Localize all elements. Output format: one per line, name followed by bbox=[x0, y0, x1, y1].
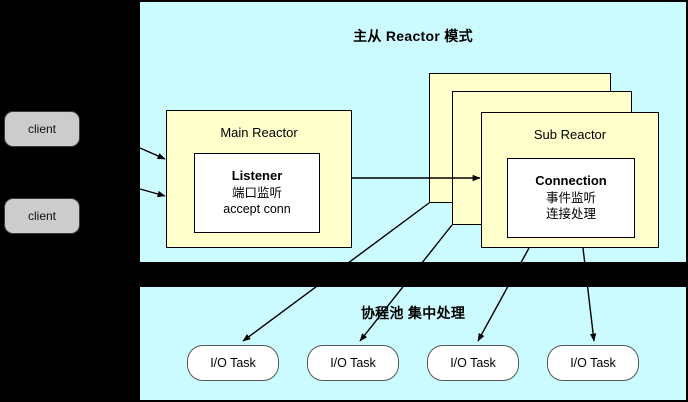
io-task-node-3-label: I/O Task bbox=[450, 356, 496, 370]
connection-title: Connection bbox=[535, 173, 607, 189]
connection-box[interactable]: Connection 事件监听 连接处理 bbox=[507, 158, 635, 238]
io-task-node-3[interactable]: I/O Task bbox=[427, 345, 519, 381]
listener-line-2: accept conn bbox=[223, 202, 290, 218]
listener-line-1: 端口监听 bbox=[232, 186, 282, 202]
io-task-node-2-label: I/O Task bbox=[330, 356, 376, 370]
bottom-panel-title: 协程池 集中处理 bbox=[140, 303, 686, 323]
listener-title: Listener bbox=[232, 168, 283, 184]
io-task-node-2[interactable]: I/O Task bbox=[307, 345, 399, 381]
io-task-node-4[interactable]: I/O Task bbox=[547, 345, 639, 381]
main-reactor-label: Main Reactor bbox=[167, 125, 351, 140]
top-panel-title: 主从 Reactor 模式 bbox=[140, 26, 686, 46]
top-panel: 主从 Reactor 模式 Main Reactor Listener 端口监听… bbox=[140, 2, 686, 262]
diagram-canvas: 主从 Reactor 模式 Main Reactor Listener 端口监听… bbox=[0, 0, 688, 402]
sub-reactor-label: Sub Reactor bbox=[482, 127, 658, 142]
connection-line-2: 连接处理 bbox=[546, 207, 596, 223]
sub-reactor-box[interactable]: Sub Reactor Connection 事件监听 连接处理 bbox=[481, 112, 659, 248]
io-task-node-4-label: I/O Task bbox=[570, 356, 616, 370]
io-task-node-1[interactable]: I/O Task bbox=[187, 345, 279, 381]
client-node-2[interactable]: client bbox=[4, 198, 80, 234]
client-node-2-label: client bbox=[28, 209, 56, 223]
connection-line-1: 事件监听 bbox=[546, 191, 596, 207]
io-task-node-1-label: I/O Task bbox=[210, 356, 256, 370]
client-node-1[interactable]: client bbox=[4, 111, 80, 147]
main-reactor-box[interactable]: Main Reactor Listener 端口监听 accept conn bbox=[166, 110, 352, 248]
listener-box[interactable]: Listener 端口监听 accept conn bbox=[194, 153, 320, 233]
client-node-1-label: client bbox=[28, 122, 56, 136]
